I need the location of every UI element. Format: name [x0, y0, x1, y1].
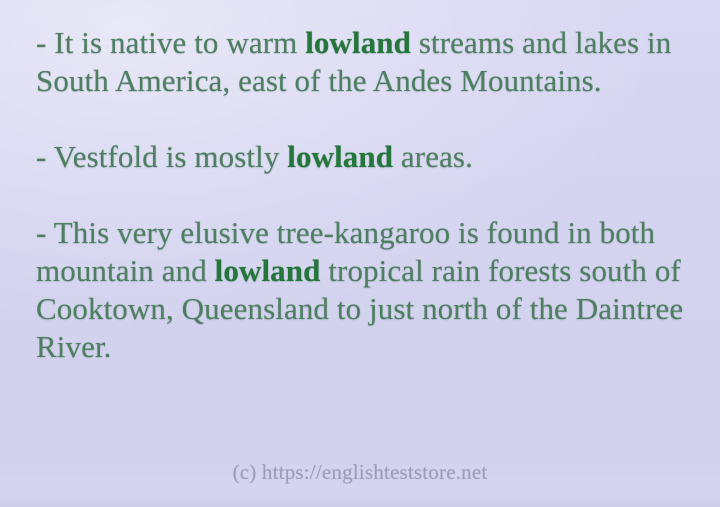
sentence-1-bullet: -: [36, 25, 54, 60]
sentence-1-text-before: It is native to warm: [54, 25, 305, 60]
sentence-item-1: - It is native to warm lowland streams a…: [36, 24, 702, 100]
watermark-credit: (c) https://englishteststore.net: [0, 460, 720, 484]
sentence-3-bullet: -: [36, 215, 54, 250]
sentence-item-3: - This very elusive tree-kangaroo is fou…: [36, 214, 702, 366]
sentence-2-text-after: areas.: [393, 139, 473, 174]
sentence-2-bullet: -: [36, 139, 54, 174]
sentence-1-keyword: lowland: [305, 25, 411, 60]
example-sentences-slide: - It is native to warm lowland streams a…: [0, 0, 720, 507]
sentence-2-text-before: Vestfold is mostly: [54, 139, 288, 174]
sentence-list: - It is native to warm lowland streams a…: [36, 24, 702, 366]
sentence-3-keyword: lowland: [215, 253, 321, 288]
sentence-item-2: - Vestfold is mostly lowland areas.: [36, 138, 702, 176]
sentence-2-keyword: lowland: [287, 139, 393, 174]
